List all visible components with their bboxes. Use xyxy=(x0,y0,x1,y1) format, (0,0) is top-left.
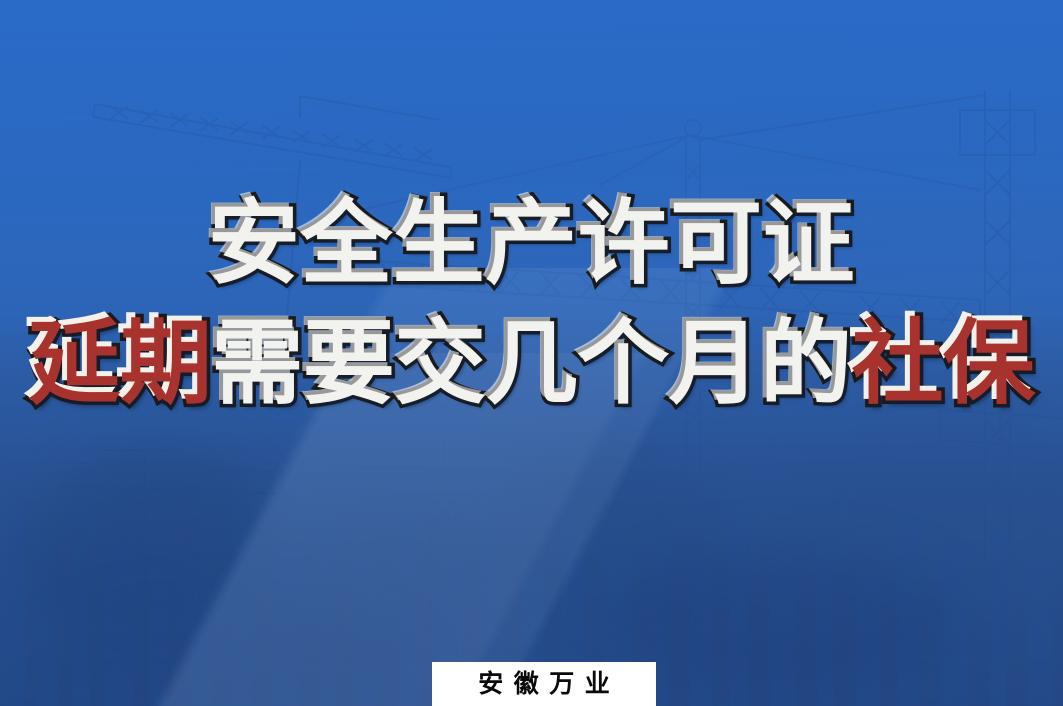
headline-line-2: 延期需要交几个月的社保 xyxy=(0,318,1063,410)
brand-name: 安徽万业 xyxy=(468,672,621,697)
background-blob xyxy=(617,551,957,691)
background-blob xyxy=(775,380,1063,640)
hand-holding-tablet-icon xyxy=(0,416,292,668)
background-top-highlight xyxy=(0,0,1063,706)
headline-segment-white: 安全生产许可证 xyxy=(208,193,855,295)
headline-line-1: 安全生产许可证 xyxy=(0,198,1063,290)
background-sky xyxy=(0,0,1063,706)
background-blue-duotone-tint xyxy=(0,0,1063,706)
headline-segment-red-leading: 延期 xyxy=(29,313,212,415)
background-blob xyxy=(32,607,412,706)
background-light-wedge xyxy=(0,268,1063,706)
background-blob xyxy=(471,416,738,659)
background-construction-site xyxy=(0,311,1063,706)
headline: 安全生产许可证 延期需要交几个月的社保 xyxy=(0,198,1063,410)
brand-plate: 安徽万业 xyxy=(432,662,656,706)
headline-segment-red-trailing: 社保 xyxy=(852,313,1035,415)
tower-crane-icon xyxy=(0,0,1063,706)
headline-segment-white-middle: 需要交几个月的 xyxy=(211,313,851,415)
poster-canvas: 安全生产许可证 延期需要交几个月的社保 安徽万业 xyxy=(0,0,1063,706)
background-blob xyxy=(204,488,522,678)
background-light-wedge-secondary xyxy=(0,353,1063,706)
